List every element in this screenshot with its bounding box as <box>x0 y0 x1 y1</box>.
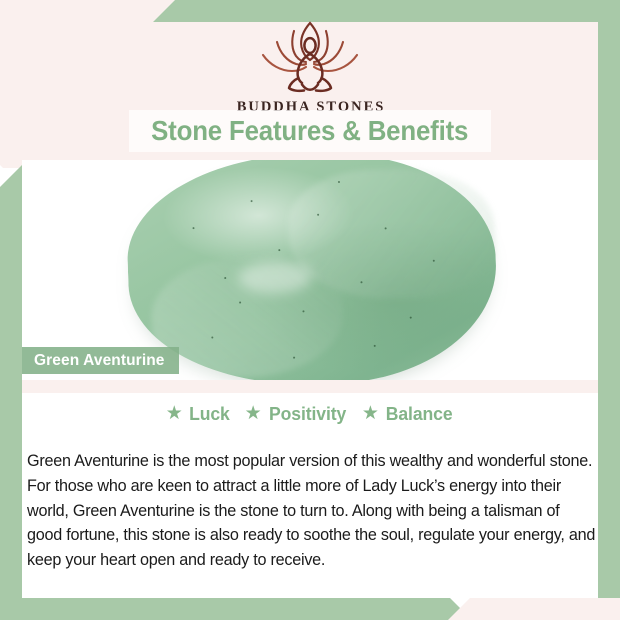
stone-speckle <box>409 316 411 318</box>
stone-speckle <box>251 200 253 202</box>
content-divider-strip <box>22 380 598 393</box>
stone-speckle <box>360 281 362 283</box>
benefit-item-balance: ★ Balance <box>362 403 454 425</box>
stone-speckle <box>193 227 195 229</box>
brand-logo: BUDDHA STONES <box>0 18 620 116</box>
green-aventurine-stone-image <box>124 160 500 380</box>
stone-speckle <box>278 249 280 251</box>
content-panel: ★ Luck ★ Positivity ★ Balance Green Aven… <box>22 380 598 598</box>
page-title: Stone Features & Benefits <box>151 115 468 147</box>
stone-speckle <box>224 277 226 279</box>
benefit-label: Luck <box>189 403 230 425</box>
stone-speckle <box>374 345 376 347</box>
star-icon: ★ <box>362 404 379 423</box>
page-title-banner: Stone Features & Benefits <box>129 110 491 152</box>
star-icon: ★ <box>166 404 183 423</box>
stone-features-poster: BUDDHA STONES Stone Features & Benefits <box>0 0 620 620</box>
frame-corner-bottom-right <box>448 598 620 620</box>
benefits-list: ★ Luck ★ Positivity ★ Balance <box>22 403 598 425</box>
star-icon: ★ <box>245 404 262 423</box>
lotus-meditation-icon <box>254 18 366 96</box>
benefit-item-luck: ★ Luck <box>166 403 231 425</box>
stone-speckle <box>384 227 386 229</box>
stone-name-label: Green Aventurine <box>34 352 165 370</box>
benefit-label: Balance <box>386 403 453 425</box>
stone-description: Green Aventurine is the most popular ver… <box>27 449 597 573</box>
stone-name-badge: Green Aventurine <box>22 347 179 374</box>
benefit-item-positivity: ★ Positivity <box>245 403 348 425</box>
benefit-label: Positivity <box>269 403 346 425</box>
